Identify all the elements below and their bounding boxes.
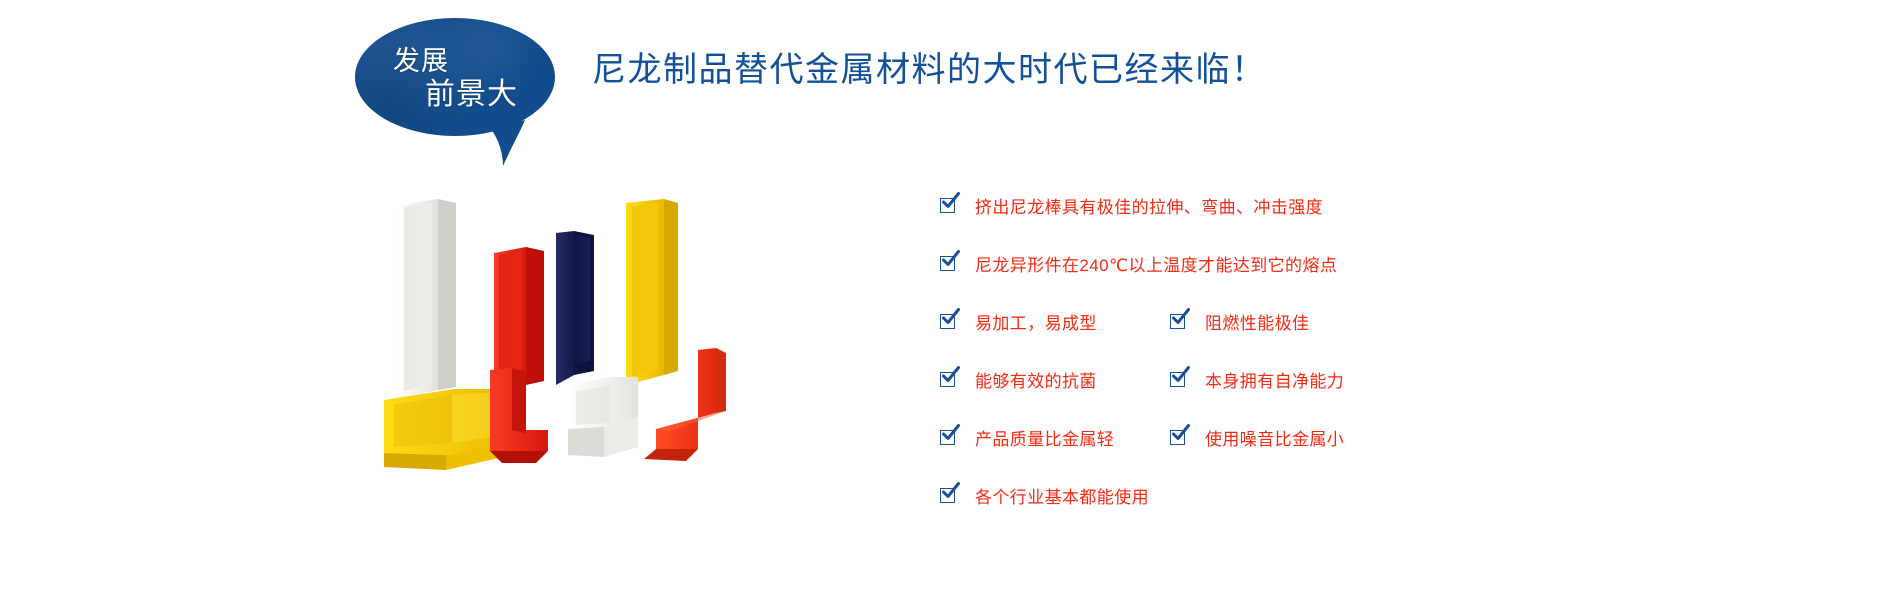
feature-item: 尼龙异形件在240℃以上温度才能达到它的熔点 bbox=[940, 248, 1337, 278]
checkbox-checked-icon bbox=[940, 196, 959, 215]
feature-row: 易加工，易成型 阻燃性能极佳 bbox=[940, 306, 1500, 364]
speech-bubble-line-1: 发展 bbox=[393, 44, 449, 79]
feature-item: 使用噪音比金属小 bbox=[1170, 422, 1344, 452]
feature-label: 挤出尼龙棒具有极佳的拉伸、弯曲、冲击强度 bbox=[975, 193, 1323, 218]
checkbox-checked-icon bbox=[940, 486, 959, 505]
feature-row: 产品质量比金属轻 使用噪音比金属小 bbox=[940, 422, 1500, 480]
feature-item: 本身拥有自净能力 bbox=[1170, 364, 1344, 394]
speech-bubble-line-2: 前景大 bbox=[425, 76, 518, 114]
feature-label: 易加工，易成型 bbox=[975, 309, 1097, 334]
checkbox-checked-icon bbox=[1170, 428, 1189, 447]
speech-bubble-text: 发展 前景大 bbox=[355, 18, 555, 136]
checkbox-checked-icon bbox=[940, 428, 959, 447]
feature-label: 本身拥有自净能力 bbox=[1205, 367, 1344, 392]
feature-item: 各个行业基本都能使用 bbox=[940, 480, 1149, 510]
feature-item: 产品质量比金属轻 bbox=[940, 422, 1114, 452]
feature-label: 使用噪音比金属小 bbox=[1205, 425, 1344, 450]
headline: 尼龙制品替代金属材料的大时代已经来临！ bbox=[592, 50, 1267, 91]
checkbox-checked-icon bbox=[1170, 370, 1189, 389]
checkbox-checked-icon bbox=[940, 312, 959, 331]
feature-row: 各个行业基本都能使用 bbox=[940, 480, 1500, 538]
feature-label: 阻燃性能极佳 bbox=[1205, 309, 1309, 334]
feature-item: 阻燃性能极佳 bbox=[1170, 306, 1309, 336]
speech-bubble: 发展 前景大 bbox=[355, 18, 605, 168]
feature-row: 挤出尼龙棒具有极佳的拉伸、弯曲、冲击强度 bbox=[940, 190, 1500, 248]
feature-item: 易加工，易成型 bbox=[940, 306, 1097, 336]
promo-banner: 发展 前景大 尼龙制品替代金属材料的大时代已经来临！ bbox=[0, 0, 1902, 592]
feature-item: 能够有效的抗菌 bbox=[940, 364, 1097, 394]
feature-label: 能够有效的抗菌 bbox=[975, 367, 1097, 392]
feature-label: 产品质量比金属轻 bbox=[975, 425, 1114, 450]
red-l-angle-lying bbox=[490, 368, 548, 463]
feature-label: 尼龙异形件在240℃以上温度才能达到它的熔点 bbox=[975, 251, 1337, 276]
feature-list: 挤出尼龙棒具有极佳的拉伸、弯曲、冲击强度 尼龙异形件在240℃以上温度才能达到它… bbox=[940, 190, 1500, 538]
checkbox-checked-icon bbox=[1170, 312, 1189, 331]
feature-label: 各个行业基本都能使用 bbox=[975, 483, 1149, 508]
feature-row: 能够有效的抗菌 本身拥有自净能力 bbox=[940, 364, 1500, 422]
checkbox-checked-icon bbox=[940, 254, 959, 273]
feature-row: 尼龙异形件在240℃以上温度才能达到它的熔点 bbox=[940, 248, 1500, 306]
feature-item: 挤出尼龙棒具有极佳的拉伸、弯曲、冲击强度 bbox=[940, 190, 1323, 220]
checkbox-checked-icon bbox=[940, 370, 959, 389]
white-u-channel-tall bbox=[398, 199, 456, 399]
white-u-channel-lying bbox=[568, 377, 638, 457]
yellow-u-channel-tall bbox=[626, 199, 678, 385]
navy-u-channel bbox=[556, 231, 594, 385]
product-photo bbox=[360, 185, 760, 475]
